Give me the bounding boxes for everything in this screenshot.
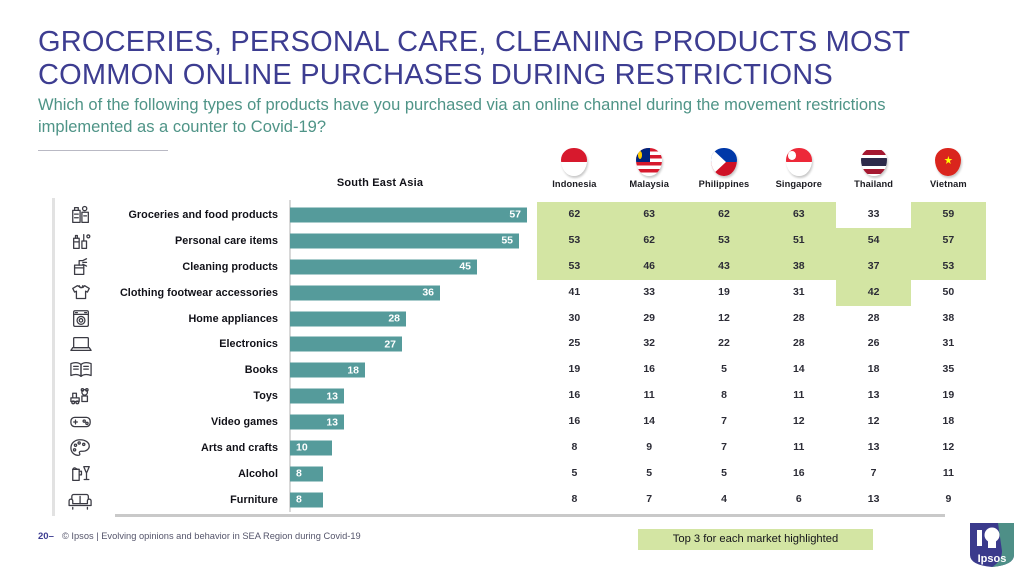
data-cell-thailand: 13 [836,383,911,409]
category-label: Arts and crafts [96,442,278,454]
data-cell-thailand: 37 [836,254,911,280]
page-subtitle: Which of the following types of products… [38,94,958,138]
data-cell-philippines: 5 [687,357,762,383]
sea-bar: 13 [290,389,344,404]
data-cell-vietnam: 31 [911,331,986,357]
chart-row: Toys1316118111319 [0,383,1024,409]
data-cell-singapore: 14 [761,357,836,383]
data-cell-indonesia: 25 [537,331,612,357]
sea-bar-value: 13 [326,390,338,402]
data-cell-singapore: 12 [761,409,836,435]
sea-bar-value: 27 [384,338,396,350]
data-cell-vietnam: 50 [911,280,986,306]
data-cell-thailand: 12 [836,409,911,435]
sea-bar: 27 [290,337,402,352]
data-cell-philippines: 22 [687,331,762,357]
data-cell-malaysia: 29 [612,306,687,332]
market-name-label: Thailand [836,179,911,189]
chart-row: Electronics27253222282631 [0,331,1024,357]
data-cell-thailand: 26 [836,331,911,357]
flag-icon-malaysia [636,148,662,176]
market-header-philippines: Philippines [687,148,762,193]
toy-train-teddy-icon [68,385,94,407]
chart-rows: Groceries and food products5762636263335… [0,202,1024,513]
data-cell-vietnam: 18 [911,409,986,435]
data-cell-thailand: 28 [836,306,911,332]
data-cell-indonesia: 16 [537,383,612,409]
sea-bar-value: 13 [326,416,338,428]
chart-title: South East Asia [290,177,470,189]
data-cell-philippines: 12 [687,306,762,332]
data-cell-malaysia: 11 [612,383,687,409]
sea-bar-value: 55 [501,235,513,247]
data-cell-vietnam: 53 [911,254,986,280]
personal-care-bottles-icon [68,230,94,252]
data-cell-indonesia: 30 [537,306,612,332]
chart-row: Cleaning products45534643383753 [0,254,1024,280]
data-cell-malaysia: 9 [612,435,687,461]
chart-row: Clothing footwear accessories36413319314… [0,280,1024,306]
market-name-label: Malaysia [612,179,687,189]
laptop-icon [68,333,94,355]
chart-bottom-rule [115,514,945,517]
market-header-singapore: Singapore [761,148,836,193]
market-header-malaysia: Malaysia [612,148,687,193]
data-cell-singapore: 11 [761,435,836,461]
ipsos-logo: Ipsos [968,521,1016,569]
sea-bar-value: 57 [509,209,521,221]
chart-row: Groceries and food products5762636263335… [0,202,1024,228]
svg-text:Ipsos: Ipsos [978,553,1007,565]
data-cell-vietnam: 9 [911,487,986,513]
data-cell-philippines: 7 [687,409,762,435]
data-cell-indonesia: 8 [537,487,612,513]
chart-row: Personal care items55536253515457 [0,228,1024,254]
paint-palette-icon [68,437,94,459]
data-cell-indonesia: 53 [537,254,612,280]
flag-icon-philippines [711,148,737,176]
page-number-value: 20 [38,531,49,542]
market-name-label: Indonesia [537,179,612,189]
chart-row: Alcohol855516711 [0,461,1024,487]
data-cell-thailand: 33 [836,202,911,228]
data-cell-malaysia: 14 [612,409,687,435]
page-number: 20– [38,531,54,542]
data-cell-vietnam: 59 [911,202,986,228]
sea-bar-value: 36 [422,287,434,299]
category-label: Cleaning products [96,261,278,273]
market-name-label: Singapore [761,179,836,189]
data-cell-vietnam: 35 [911,357,986,383]
sofa-icon [68,489,94,511]
market-name-label: Philippines [687,179,762,189]
data-cell-singapore: 63 [761,202,836,228]
data-cell-philippines: 19 [687,280,762,306]
data-cell-philippines: 7 [687,435,762,461]
data-cell-indonesia: 62 [537,202,612,228]
sea-bar-value: 18 [347,364,359,376]
chart-row: Furniture88746139 [0,487,1024,513]
sea-bar: 8 [290,492,323,507]
sea-bar: 57 [290,207,527,222]
footer-source: © Ipsos | Evolving opinions and behavior… [62,531,361,541]
sea-bar-value: 28 [388,313,400,325]
flag-icon-thailand [861,148,887,176]
chart-row: Home appliances28302912282838 [0,306,1024,332]
market-header-indonesia: Indonesia [537,148,612,193]
data-cell-thailand: 42 [836,280,911,306]
sea-bar: 36 [290,285,440,300]
data-cell-singapore: 28 [761,331,836,357]
data-cell-thailand: 54 [836,228,911,254]
data-cell-malaysia: 16 [612,357,687,383]
data-cell-philippines: 53 [687,228,762,254]
data-cell-malaysia: 33 [612,280,687,306]
open-book-icon [68,359,94,381]
grocery-bag-icon [68,204,94,226]
data-cell-singapore: 31 [761,280,836,306]
data-cell-indonesia: 16 [537,409,612,435]
category-label: Groceries and food products [96,209,278,221]
tshirt-icon [68,282,94,304]
category-label: Personal care items [96,235,278,247]
data-cell-thailand: 13 [836,487,911,513]
flag-icon-singapore [786,148,812,176]
data-cell-vietnam: 38 [911,306,986,332]
data-cell-indonesia: 41 [537,280,612,306]
data-cell-philippines: 43 [687,254,762,280]
data-cell-singapore: 51 [761,228,836,254]
data-cell-singapore: 6 [761,487,836,513]
spray-cleaner-icon [68,256,94,278]
data-cell-malaysia: 46 [612,254,687,280]
page-title: GROCERIES, PERSONAL CARE, CLEANING PRODU… [38,26,998,92]
sea-bar-value: 45 [459,261,471,273]
data-cell-indonesia: 5 [537,461,612,487]
category-label: Furniture [96,494,278,506]
data-cell-malaysia: 62 [612,228,687,254]
sea-bar: 13 [290,415,344,430]
data-cell-thailand: 13 [836,435,911,461]
washing-machine-icon [68,308,94,330]
data-cell-singapore: 38 [761,254,836,280]
chart-row: Video games1316147121218 [0,409,1024,435]
data-cell-thailand: 7 [836,461,911,487]
data-cell-singapore: 28 [761,306,836,332]
data-cell-philippines: 62 [687,202,762,228]
legend-note: Top 3 for each market highlighted [638,529,873,550]
sea-bar-value: 10 [296,442,308,454]
sea-bar: 8 [290,466,323,481]
chart-row: Arts and crafts10897111312 [0,435,1024,461]
flag-icon-indonesia [561,148,587,176]
category-label: Electronics [96,338,278,350]
category-label: Toys [96,390,278,402]
sea-bar: 18 [290,363,365,378]
gamepad-icon [68,411,94,433]
sea-bar: 10 [290,440,332,455]
page-number-dash: – [49,531,54,542]
data-cell-vietnam: 19 [911,383,986,409]
chart-row: Books1819165141835 [0,357,1024,383]
data-cell-philippines: 8 [687,383,762,409]
sea-bar: 45 [290,259,477,274]
beer-wine-glass-icon [68,463,94,485]
market-header-thailand: Thailand [836,148,911,193]
sea-bar: 28 [290,311,406,326]
market-header-vietnam: Vietnam [911,148,986,193]
category-label: Home appliances [96,313,278,325]
data-cell-malaysia: 32 [612,331,687,357]
data-cell-indonesia: 53 [537,228,612,254]
sea-bar-value: 8 [296,468,302,480]
data-cell-philippines: 4 [687,487,762,513]
category-label: Alcohol [96,468,278,480]
flag-icon-vietnam [935,148,961,176]
data-cell-vietnam: 57 [911,228,986,254]
sea-bar-value: 8 [296,494,302,506]
data-cell-malaysia: 7 [612,487,687,513]
data-cell-indonesia: 8 [537,435,612,461]
sea-bar: 55 [290,233,519,248]
data-cell-indonesia: 19 [537,357,612,383]
data-cell-singapore: 16 [761,461,836,487]
category-label: Books [96,364,278,376]
market-name-label: Vietnam [911,179,986,189]
data-cell-thailand: 18 [836,357,911,383]
market-column-headers: IndonesiaMalaysiaPhilippinesSingaporeTha… [537,148,986,193]
data-cell-philippines: 5 [687,461,762,487]
category-label: Clothing footwear accessories [96,287,278,299]
data-cell-vietnam: 12 [911,435,986,461]
data-cell-malaysia: 63 [612,202,687,228]
data-cell-malaysia: 5 [612,461,687,487]
header-divider [38,150,168,151]
category-label: Video games [96,416,278,428]
data-cell-singapore: 11 [761,383,836,409]
data-cell-vietnam: 11 [911,461,986,487]
slide-canvas: GROCERIES, PERSONAL CARE, CLEANING PRODU… [0,0,1024,576]
